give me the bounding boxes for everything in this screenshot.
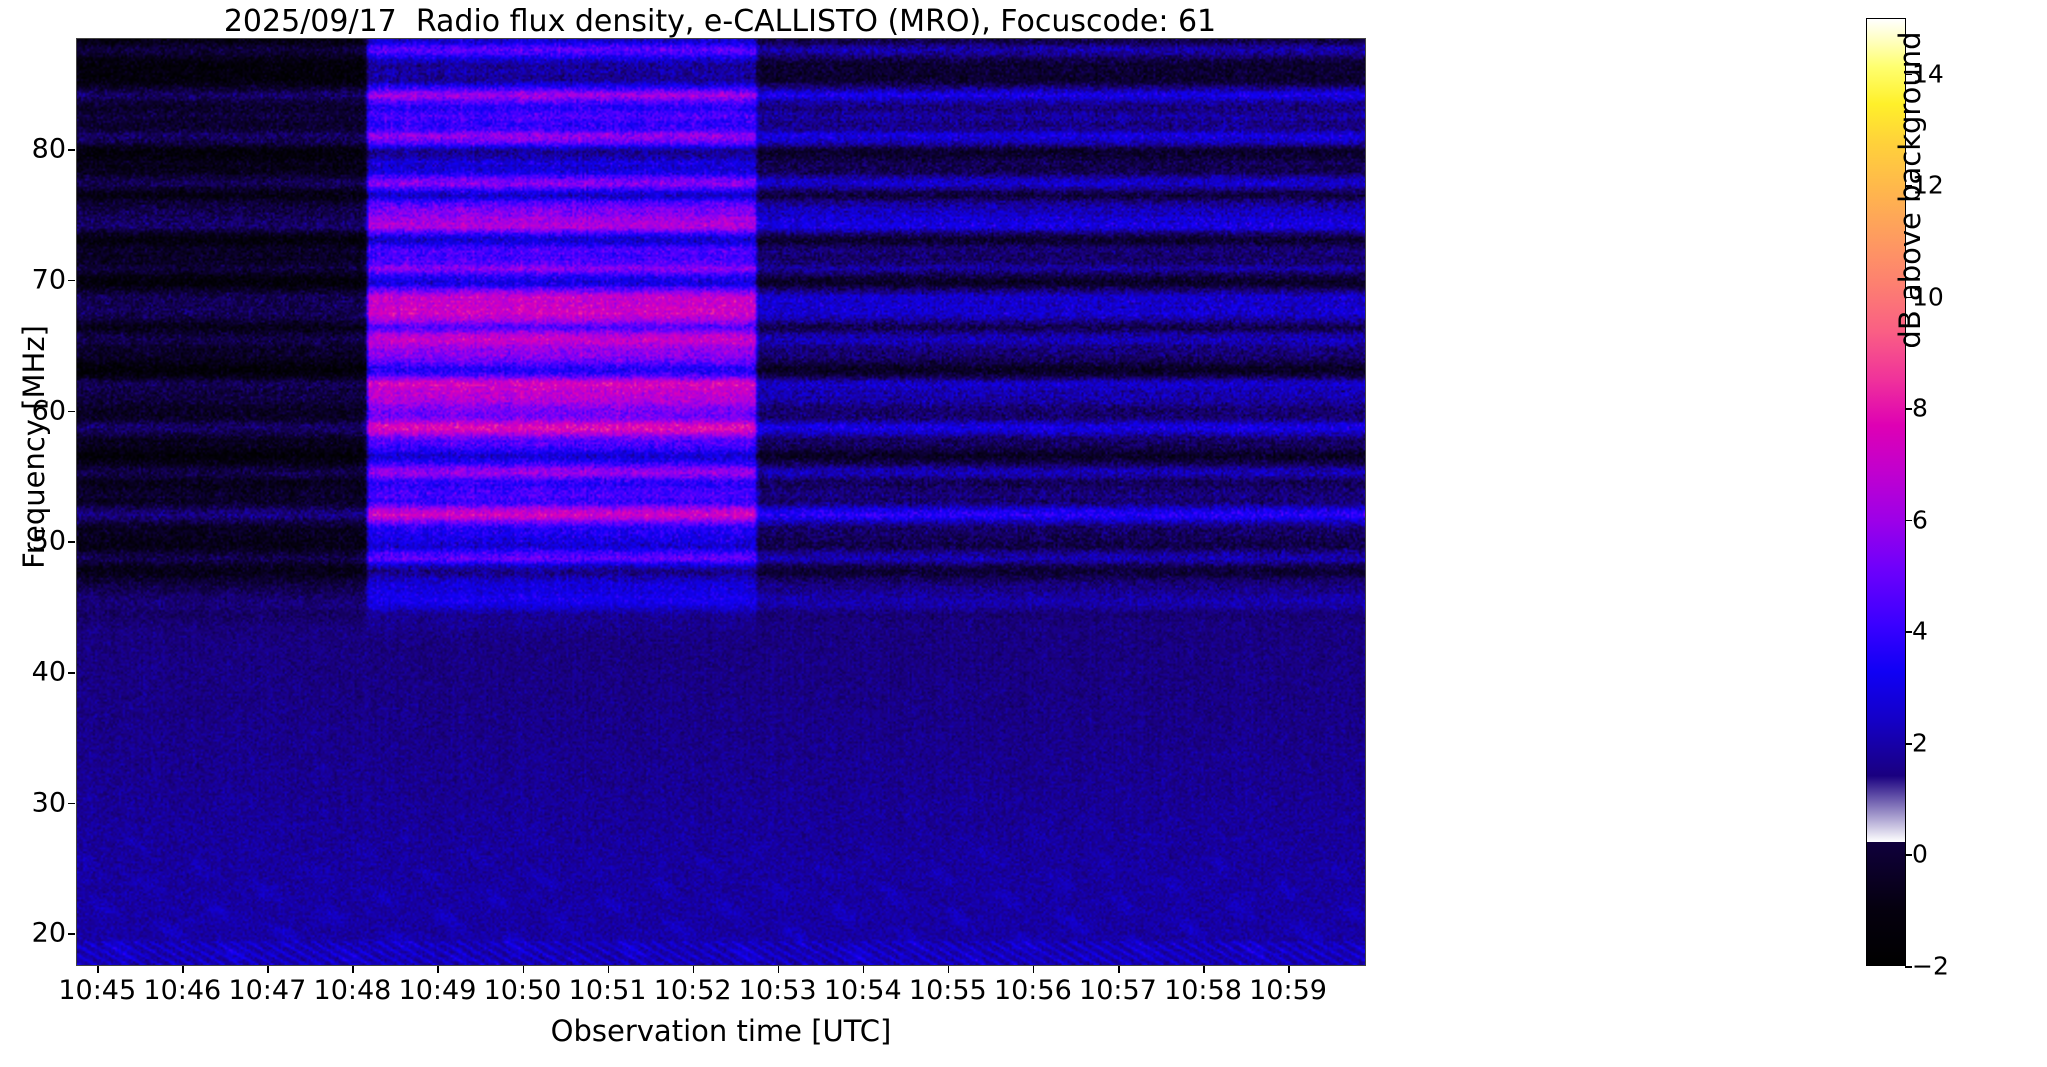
x-tick-mark bbox=[1033, 966, 1035, 973]
x-tick-label: 10:55 bbox=[909, 975, 987, 1006]
colorbar-tick-label: −2 bbox=[1912, 952, 1949, 981]
x-tick-mark bbox=[778, 966, 780, 973]
x-tick-mark bbox=[1118, 966, 1120, 973]
colorbar-tick-label: 0 bbox=[1912, 840, 1928, 869]
x-tick-mark bbox=[523, 966, 525, 973]
x-tick-label: 10:46 bbox=[143, 975, 221, 1006]
x-tick-label: 10:52 bbox=[654, 975, 732, 1006]
x-tick-mark bbox=[948, 966, 950, 973]
x-tick-mark bbox=[1203, 966, 1205, 973]
colorbar-tick-mark bbox=[1905, 743, 1912, 745]
colorbar-tick-label: 6 bbox=[1912, 505, 1928, 534]
x-tick-mark bbox=[182, 966, 184, 973]
x-tick-mark bbox=[608, 966, 610, 973]
x-axis: Observation time [UTC] 10:4510:4610:4710… bbox=[0, 0, 1440, 1067]
x-tick-label: 10:58 bbox=[1164, 975, 1242, 1006]
x-tick-label: 10:51 bbox=[569, 975, 647, 1006]
x-tick-label: 10:57 bbox=[1079, 975, 1157, 1006]
colorbar-tick-mark bbox=[1905, 520, 1912, 522]
colorbar-tick-label: 2 bbox=[1912, 728, 1928, 757]
colorbar-tick-mark bbox=[1905, 966, 1912, 968]
colorbar-tick-mark bbox=[1905, 631, 1912, 633]
x-tick-label: 10:49 bbox=[399, 975, 477, 1006]
x-tick-label: 10:59 bbox=[1249, 975, 1327, 1006]
colorbar-tick-mark bbox=[1905, 854, 1912, 856]
x-tick-mark bbox=[863, 966, 865, 973]
colorbar-tick-mark bbox=[1905, 408, 1912, 410]
x-tick-label: 10:56 bbox=[994, 975, 1072, 1006]
x-tick-label: 10:50 bbox=[484, 975, 562, 1006]
x-tick-mark bbox=[352, 966, 354, 973]
x-tick-mark bbox=[437, 966, 439, 973]
colorbar-tick-label: 4 bbox=[1912, 617, 1928, 646]
x-tick-label: 10:53 bbox=[739, 975, 817, 1006]
x-tick-label: 10:47 bbox=[228, 975, 306, 1006]
x-tick-label: 10:54 bbox=[824, 975, 902, 1006]
colorbar-label: dB above background bbox=[1893, 0, 1927, 400]
x-tick-mark bbox=[693, 966, 695, 973]
x-tick-mark bbox=[97, 966, 99, 973]
x-tick-label: 10:48 bbox=[314, 975, 392, 1006]
x-tick-mark bbox=[267, 966, 269, 973]
x-tick-label: 10:45 bbox=[58, 975, 136, 1006]
x-tick-mark bbox=[1288, 966, 1290, 973]
x-axis-label: Observation time [UTC] bbox=[76, 1014, 1366, 1048]
